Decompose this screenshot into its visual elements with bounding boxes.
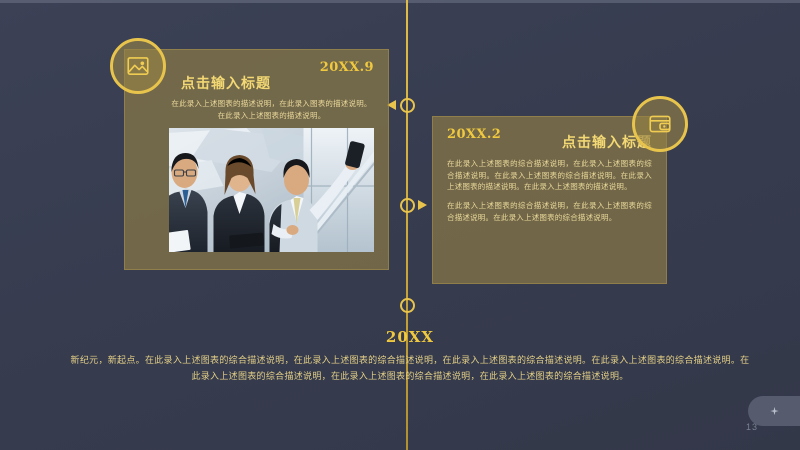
slide-top-edge [0,0,800,3]
left-card-title: 点击输入标题 [181,73,374,93]
right-card-body: 在此录入上述图表的综合描述说明，在此录入上述图表的综合描述说明。在此录入上述图表… [447,158,652,223]
right-card-badge[interactable] [632,96,688,152]
image-icon [125,53,151,79]
right-content-card[interactable]: 20XX.2 点击输入标题 在此录入上述图表的综合描述说明，在此录入上述图表的综… [432,116,667,284]
right-card-paragraph-1: 在此录入上述图表的综合描述说明，在此录入上述图表的综合描述说明。在此录入上述图表… [447,158,652,193]
left-card-badge[interactable] [110,38,166,94]
right-card-paragraph-2: 在此录入上述图表的综合描述说明，在此录入上述图表的综合描述说明。在此录入上述图表… [447,200,652,223]
timeline-node-3[interactable] [400,298,415,313]
left-card-body: 在此录入上述图表的描述说明，在此录入图表的描述说明。在此录入上述图表的描述说明。 [169,98,374,121]
business-team-photo-icon [169,128,374,252]
slide-canvas: 20XX.9 点击输入标题 在此录入上述图表的描述说明，在此录入图表的描述说明。… [0,0,800,450]
timeline-node-2[interactable] [400,198,415,213]
left-content-card[interactable]: 20XX.9 点击输入标题 在此录入上述图表的描述说明，在此录入图表的描述说明。… [124,49,389,270]
sparkle-icon [769,406,780,417]
timeline-node-1[interactable] [400,98,415,113]
timeline-arrow-right-icon [418,200,427,210]
toolbar-pill[interactable] [748,396,800,426]
footer-body: 新纪元，新起点。在此录入上述图表的综合描述说明，在此录入上述图表的综合描述说明，… [60,353,760,385]
left-card-photo [169,128,374,252]
wallet-icon [647,111,673,137]
footer-title: 20XX [60,328,760,346]
footer-block: 20XX 新纪元，新起点。在此录入上述图表的综合描述说明，在此录入上述图表的综合… [60,328,760,385]
